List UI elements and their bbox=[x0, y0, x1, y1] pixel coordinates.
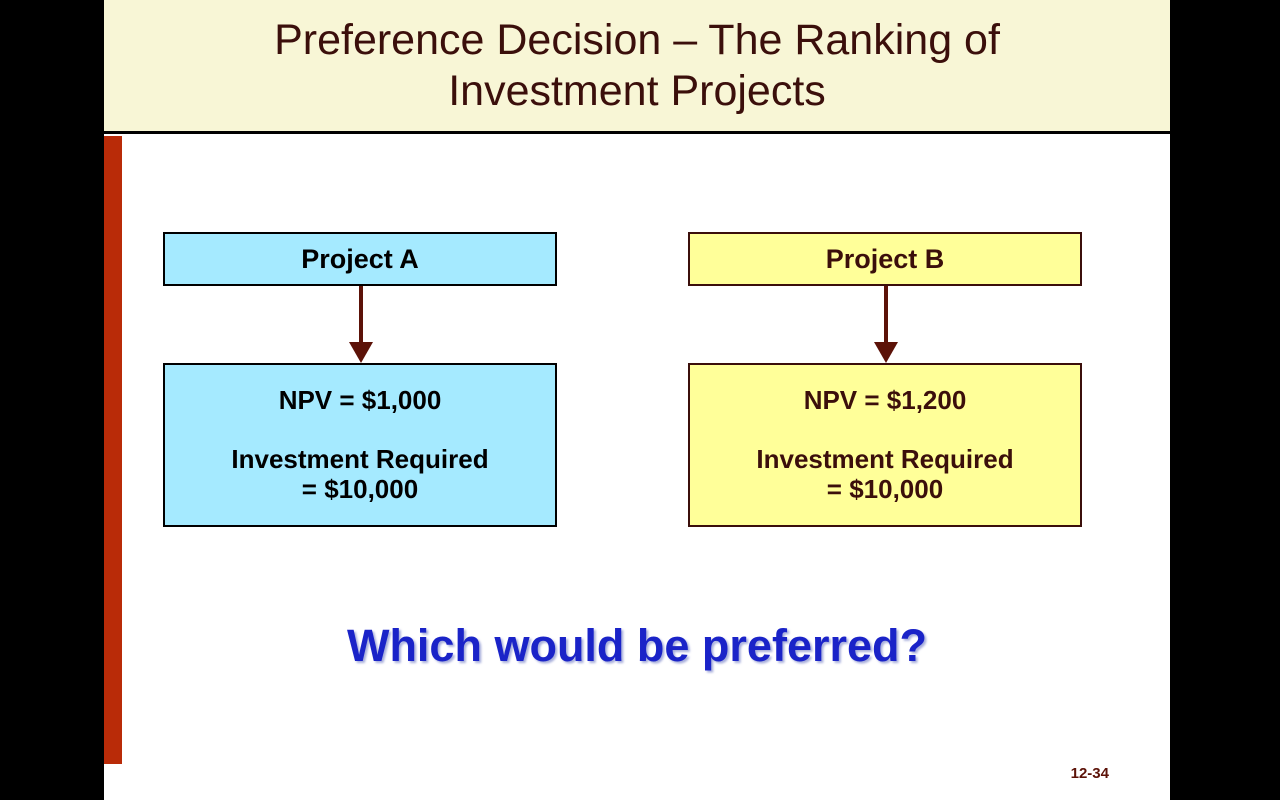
project-a-investment-line-1: Investment Required bbox=[231, 444, 488, 475]
arrow-shaft-icon bbox=[359, 286, 363, 344]
project-a-investment-line-2: = $10,000 bbox=[302, 474, 418, 505]
project-b-investment-line-2: = $10,000 bbox=[827, 474, 943, 505]
arrow-shaft-icon bbox=[884, 286, 888, 344]
project-b-npv-line: NPV = $1,200 bbox=[804, 385, 967, 416]
arrow-head-icon bbox=[349, 342, 373, 363]
project-b-detail-box: NPV = $1,200 Investment Required = $10,0… bbox=[688, 363, 1082, 527]
arrow-head-icon bbox=[874, 342, 898, 363]
project-a-header-box: Project A bbox=[163, 232, 557, 286]
project-b-header-box: Project B bbox=[688, 232, 1082, 286]
project-b-arrow bbox=[688, 286, 1082, 363]
project-column-a: Project A NPV = $1,000 Investment Requir… bbox=[163, 232, 557, 527]
project-a-detail-box: NPV = $1,000 Investment Required = $10,0… bbox=[163, 363, 557, 527]
slide-header-banner: Preference Decision – The Ranking of Inv… bbox=[104, 0, 1170, 134]
slide-stage: Preference Decision – The Ranking of Inv… bbox=[104, 0, 1170, 800]
project-a-arrow bbox=[163, 286, 557, 363]
question-text: Which would be preferred? bbox=[104, 620, 1170, 672]
project-b-investment-line-1: Investment Required bbox=[756, 444, 1013, 475]
page-title: Preference Decision – The Ranking of Inv… bbox=[258, 15, 1016, 116]
project-a-npv-line: NPV = $1,000 bbox=[279, 385, 442, 416]
project-column-b: Project B NPV = $1,200 Investment Requir… bbox=[688, 232, 1082, 527]
slide-number: 12-34 bbox=[1071, 765, 1109, 782]
